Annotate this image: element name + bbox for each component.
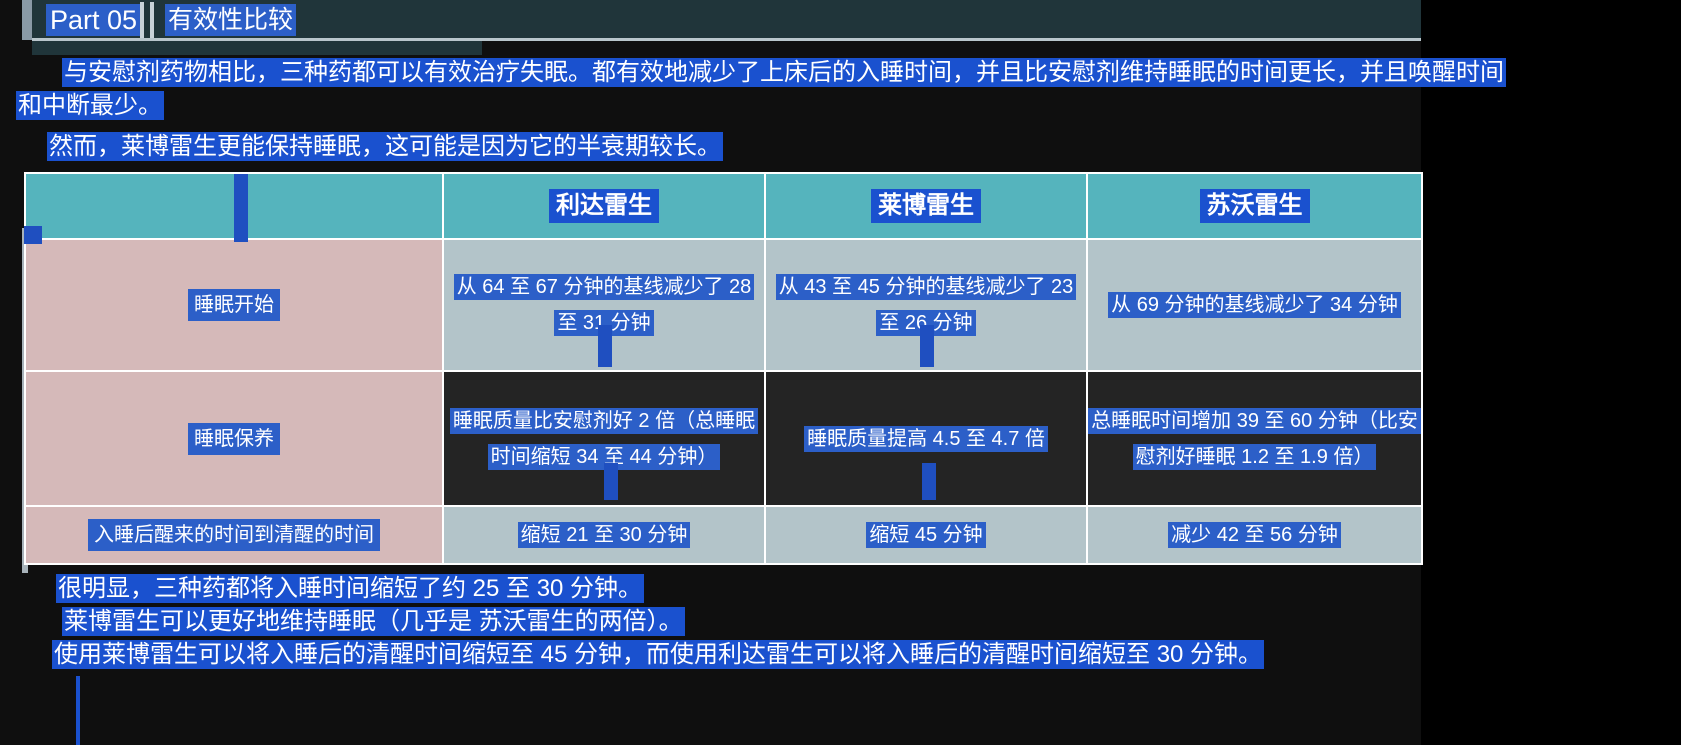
- row-label-waso: 入睡后醒来的时间到清醒的时间: [25, 506, 443, 564]
- selection-caret-r1c2: [920, 325, 934, 367]
- cell-r3c1-text: 缩短 21 至 30 分钟: [518, 522, 691, 548]
- intro-line-2-text: 和中断最少。: [16, 91, 164, 120]
- header-band-lower: [32, 41, 482, 55]
- selection-caret-corner: [24, 226, 42, 244]
- cell-r3c3: 减少 42 至 56 分钟: [1087, 506, 1422, 564]
- slide-canvas: Part 05 有效性比较 与安慰剂药物相比，三种药都可以有效治疗失眠。都有效地…: [0, 0, 1681, 745]
- left-rail-top: [22, 0, 32, 40]
- footer-line-1: 很明显，三种药都将入睡时间缩短了约 25 至 30 分钟。: [56, 572, 1681, 605]
- table-row: 睡眠保养 睡眠质量比安慰剂好 2 倍（总睡眠时间缩短 34 至 44 分钟） 睡…: [25, 371, 1422, 506]
- section-title: 有效性比较: [165, 4, 296, 36]
- header-label-3: 苏沃雷生: [1200, 189, 1310, 223]
- header-label-2: 莱博雷生: [871, 189, 981, 223]
- footer-line-3-text: 使用莱博雷生可以将入睡后的清醒时间缩短至 45 分钟，而使用利达雷生可以将入睡后…: [52, 640, 1264, 669]
- footer-line-3: 使用莱博雷生可以将入睡后的清醒时间缩短至 45 分钟，而使用利达雷生可以将入睡后…: [52, 638, 1681, 671]
- footer-line-2-text: 莱博雷生可以更好地维持睡眠（几乎是 苏沃雷生的两倍）。: [62, 607, 685, 636]
- selection-caret-header-1: [234, 174, 248, 242]
- selection-caret-r2c1: [604, 463, 618, 500]
- row-label-sleep-onset: 睡眠开始: [25, 239, 443, 371]
- row-label-text: 入睡后醒来的时间到清醒的时间: [88, 519, 380, 551]
- cell-r3c2: 缩短 45 分钟: [765, 506, 1087, 564]
- table-header-cell-lidarayin: 利达雷生: [443, 173, 765, 239]
- selection-caret-footer: [76, 676, 80, 745]
- table-header-cell-lemborexant: 莱博雷生: [765, 173, 1087, 239]
- cell-r3c3-text: 减少 42 至 56 分钟: [1168, 522, 1341, 548]
- row-label-text: 睡眠保养: [188, 423, 280, 455]
- cell-r3c2-text: 缩短 45 分钟: [866, 522, 985, 548]
- row-label-sleep-maintenance: 睡眠保养: [25, 371, 443, 506]
- intro-line-2: 和中断最少。: [16, 89, 1681, 122]
- header-label-1: 利达雷生: [549, 189, 659, 223]
- intro-line-1: 与安慰剂药物相比，三种药都可以有效治疗失眠。都有效地减少了上床后的入睡时间，并且…: [62, 56, 1681, 89]
- cell-r3c1: 缩短 21 至 30 分钟: [443, 506, 765, 564]
- header-divider-left: [140, 2, 144, 38]
- cell-r1c3: 从 69 分钟的基线减少了 34 分钟: [1087, 239, 1422, 371]
- table-row: 入睡后醒来的时间到清醒的时间 缩短 21 至 30 分钟 缩短 45 分钟 减少…: [25, 506, 1422, 564]
- part-label: Part 05: [46, 4, 141, 36]
- intro-line-3: 然而，莱博雷生更能保持睡眠，这可能是因为它的半衰期较长。: [47, 130, 1681, 163]
- cell-r2c1-text: 睡眠质量比安慰剂好 2 倍（总睡眠时间缩短 34 至 44 分钟）: [450, 408, 758, 470]
- cell-r1c3-text: 从 69 分钟的基线减少了 34 分钟: [1108, 292, 1401, 318]
- cell-r2c2-text: 睡眠质量提高 4.5 至 4.7 倍: [804, 426, 1048, 452]
- footer-line-2: 莱博雷生可以更好地维持睡眠（几乎是 苏沃雷生的两倍）。: [62, 605, 1681, 638]
- header-divider-right: [150, 2, 154, 38]
- cell-r2c3-text: 总睡眠时间增加 39 至 60 分钟（比安慰剂好睡眠 1.2 至 1.9 倍）: [1088, 408, 1421, 470]
- selection-caret-r2c2: [922, 463, 936, 500]
- intro-line-1-text: 与安慰剂药物相比，三种药都可以有效治疗失眠。都有效地减少了上床后的入睡时间，并且…: [62, 58, 1506, 87]
- table-header-cell-suvorexant: 苏沃雷生: [1087, 173, 1422, 239]
- table-row: 睡眠开始 从 64 至 67 分钟的基线减少了 28 至 31 分钟 从 43 …: [25, 239, 1422, 371]
- cell-r2c3: 总睡眠时间增加 39 至 60 分钟（比安慰剂好睡眠 1.2 至 1.9 倍）: [1087, 371, 1422, 506]
- selection-caret-r1c1: [598, 325, 612, 367]
- footer-line-1-text: 很明显，三种药都将入睡时间缩短了约 25 至 30 分钟。: [56, 574, 644, 603]
- intro-line-3-text: 然而，莱博雷生更能保持睡眠，这可能是因为它的半衰期较长。: [47, 132, 723, 161]
- footer-paragraphs: 很明显，三种药都将入睡时间缩短了约 25 至 30 分钟。 莱博雷生可以更好地维…: [0, 572, 1681, 671]
- row-label-text: 睡眠开始: [188, 289, 280, 321]
- intro-paragraphs: 与安慰剂药物相比，三种药都可以有效治疗失眠。都有效地减少了上床后的入睡时间，并且…: [0, 56, 1681, 163]
